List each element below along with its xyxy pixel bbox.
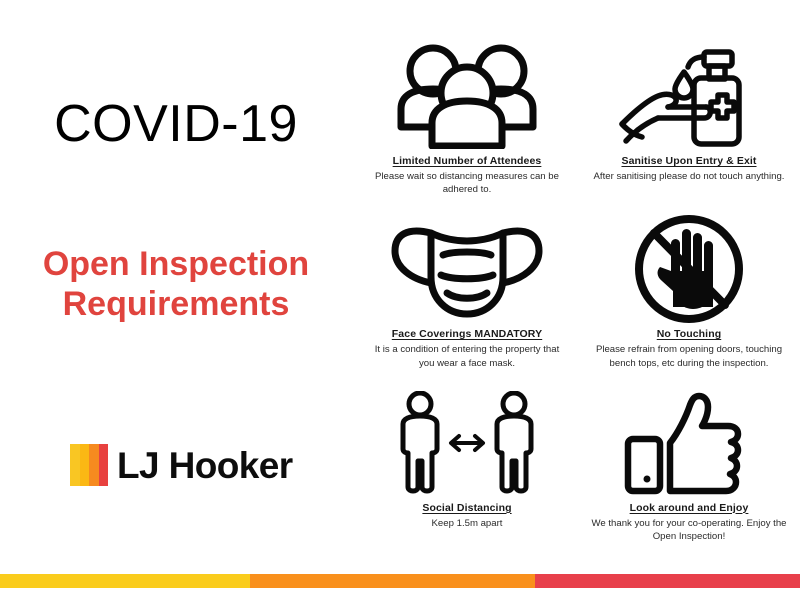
requirement-description: We thank you for your co-operating. Enjo… bbox=[589, 517, 789, 543]
requirement-title: Limited Number of Attendees bbox=[393, 155, 542, 167]
requirement-item: No Touching Please refrain from opening … bbox=[578, 213, 800, 386]
requirement-description: Keep 1.5m apart bbox=[432, 517, 503, 530]
poster-subtitle-line-1: Open Inspection bbox=[43, 245, 309, 283]
requirement-item: Look around and Enjoy We thank you for y… bbox=[578, 387, 800, 560]
group-of-people-icon bbox=[392, 40, 542, 152]
requirement-description: Please refrain from opening doors, touch… bbox=[589, 343, 789, 369]
thumbs-up-phone-icon bbox=[614, 387, 764, 499]
requirement-description: It is a condition of entering the proper… bbox=[367, 343, 567, 369]
footer-color-stripe bbox=[0, 574, 800, 588]
requirements-grid: Limited Number of Attendees Please wait … bbox=[356, 40, 800, 560]
logo-bar-1 bbox=[70, 444, 80, 486]
requirement-description: Please wait so distancing measures can b… bbox=[367, 170, 567, 196]
logo-color-bars-icon bbox=[70, 444, 108, 486]
logo-bar-3 bbox=[89, 444, 99, 486]
requirement-item: Social Distancing Keep 1.5m apart bbox=[356, 387, 578, 560]
logo-bar-4 bbox=[99, 444, 109, 486]
logo-wordmark: LJ Hooker bbox=[117, 447, 293, 484]
requirement-title: No Touching bbox=[657, 328, 721, 340]
social-distancing-icon bbox=[387, 387, 547, 499]
covid-requirements-poster: COVID-19 Open Inspection Requirements LJ… bbox=[0, 0, 800, 600]
stripe-segment-yellow bbox=[0, 574, 250, 588]
requirement-title: Look around and Enjoy bbox=[630, 502, 749, 514]
requirement-description: After sanitising please do not touch any… bbox=[594, 170, 785, 183]
page-title: COVID-19 bbox=[0, 98, 352, 150]
stripe-segment-orange bbox=[250, 574, 535, 588]
poster-left-column: COVID-19 Open Inspection Requirements LJ… bbox=[0, 0, 352, 560]
requirement-title: Social Distancing bbox=[422, 502, 511, 514]
requirement-item: Face Coverings MANDATORY It is a conditi… bbox=[356, 213, 578, 386]
hand-sanitiser-icon bbox=[614, 40, 764, 152]
requirement-item: Sanitise Upon Entry & Exit After sanitis… bbox=[578, 40, 800, 213]
face-mask-icon bbox=[387, 213, 547, 325]
stripe-segment-red bbox=[535, 574, 800, 588]
lj-hooker-logo: LJ Hooker bbox=[70, 444, 293, 486]
no-touching-icon bbox=[619, 213, 759, 325]
requirement-title: Face Coverings MANDATORY bbox=[392, 328, 542, 340]
requirement-title: Sanitise Upon Entry & Exit bbox=[621, 155, 756, 167]
requirement-item: Limited Number of Attendees Please wait … bbox=[356, 40, 578, 213]
poster-subtitle: Open Inspection Requirements bbox=[0, 244, 352, 324]
logo-bar-2 bbox=[80, 444, 90, 486]
poster-subtitle-line-2: Requirements bbox=[0, 284, 352, 324]
